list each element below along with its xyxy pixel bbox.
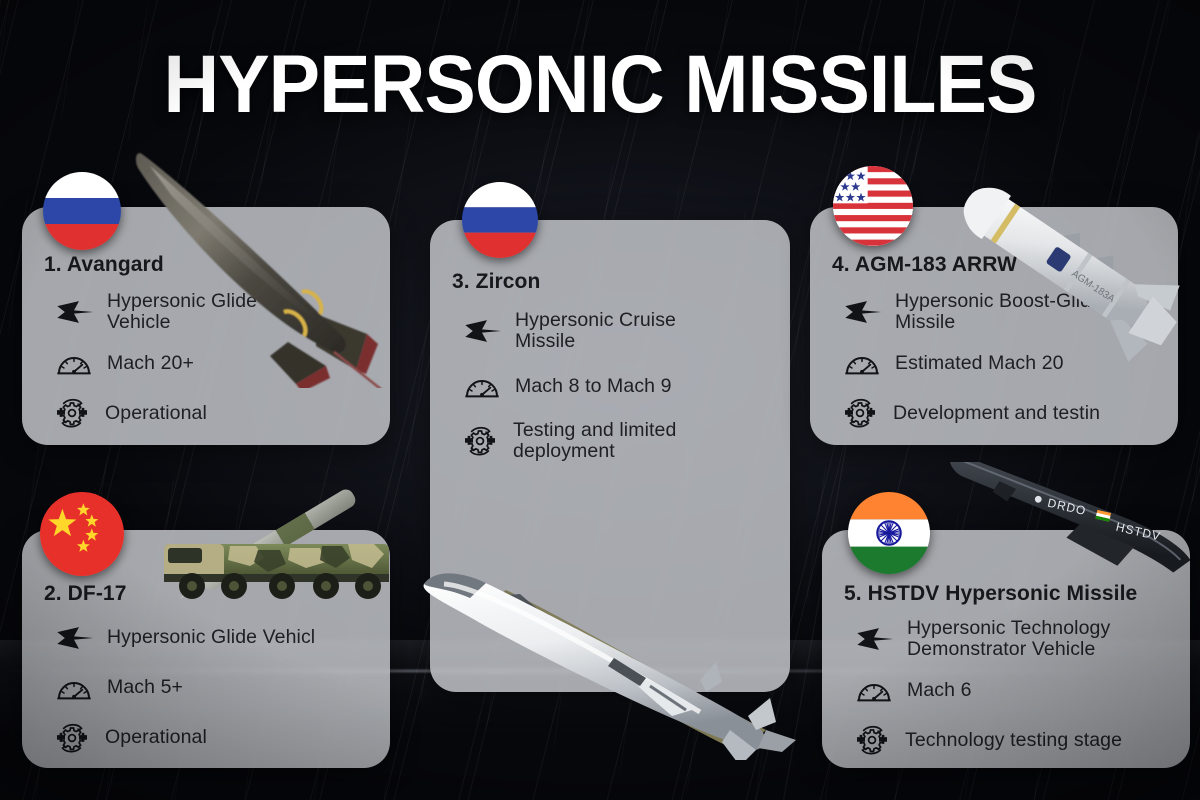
type-text: Hypersonic Boost-Glide Missile [895,291,1125,333]
speed-text: Mach 5+ [107,677,183,698]
speed-row: Mach 5+ [44,668,390,708]
status-row: Development and testin [832,393,1178,433]
speed-row: Mach 6 [844,670,1190,710]
china-flag-icon [40,492,124,576]
russia-flag-icon [462,182,538,258]
arrow-head-icon [462,311,502,351]
type-text: Hypersonic Technology Demonstrator Vehic… [907,618,1157,660]
status-row: Operational [44,718,390,758]
status-text: Development and testin [893,403,1100,424]
status-row: Operational [44,393,390,433]
type-row: Hypersonic Glide Vehicle [44,291,390,333]
gears-cycle-icon [840,393,880,433]
svg-text:DRDO: DRDO [1046,496,1087,518]
card-title: 2. DF-17 [44,582,390,606]
type-text: Hypersonic Cruise Missile [515,310,727,352]
usa-flag-icon [833,166,913,246]
speedometer-icon [54,668,94,708]
status-row: Testing and limited deployment [452,420,790,462]
speed-row: Mach 20+ [44,343,390,383]
status-text: Testing and limited deployment [513,420,728,462]
gears-cycle-icon [52,718,92,758]
page-title: HYPERSONIC MISSILES [36,44,1164,126]
speed-text: Mach 20+ [107,353,194,374]
type-row: Hypersonic Boost-Glide Missile [832,291,1178,333]
card-title: 3. Zircon [452,270,790,294]
arrow-head-icon [854,619,894,659]
card-zircon[interactable]: 3. Zircon Hypersonic Cruise Missile [430,220,790,692]
russia-flag-icon [43,172,121,250]
arrow-head-icon [54,618,94,658]
gears-cycle-icon [852,720,892,760]
type-text: Hypersonic Glide Vehicl [107,627,315,648]
india-flag-icon [848,492,930,574]
type-row: Hypersonic Glide Vehicl [44,618,390,658]
speedometer-icon [854,670,894,710]
speed-row: Estimated Mach 20 [832,343,1178,383]
gears-cycle-icon [52,393,92,433]
speed-text: Mach 8 to Mach 9 [515,376,672,397]
status-text: Technology testing stage [905,730,1122,751]
speed-text: Estimated Mach 20 [895,353,1064,374]
type-row: Hypersonic Cruise Missile [452,310,790,352]
speed-text: Mach 6 [907,680,972,701]
gears-cycle-icon [460,421,500,461]
speedometer-icon [842,343,882,383]
arrow-head-icon [842,292,882,332]
card-title: 4. AGM-183 ARRW [832,253,1178,277]
status-text: Operational [105,403,207,424]
status-text: Operational [105,727,207,748]
type-row: Hypersonic Technology Demonstrator Vehic… [844,618,1190,660]
status-row: Technology testing stage [844,720,1190,760]
type-text: Hypersonic Glide Vehicle [107,291,322,333]
card-title: 5. HSTDV Hypersonic Missile [844,582,1190,606]
speed-row: Mach 8 to Mach 9 [452,366,790,406]
card-title: 1. Avangard [44,253,390,277]
infographic-canvas: 1. Avangard Hypersonic Glide Vehicle [0,0,1200,800]
arrow-head-icon [54,292,94,332]
speedometer-icon [54,343,94,383]
speedometer-icon [462,366,502,406]
